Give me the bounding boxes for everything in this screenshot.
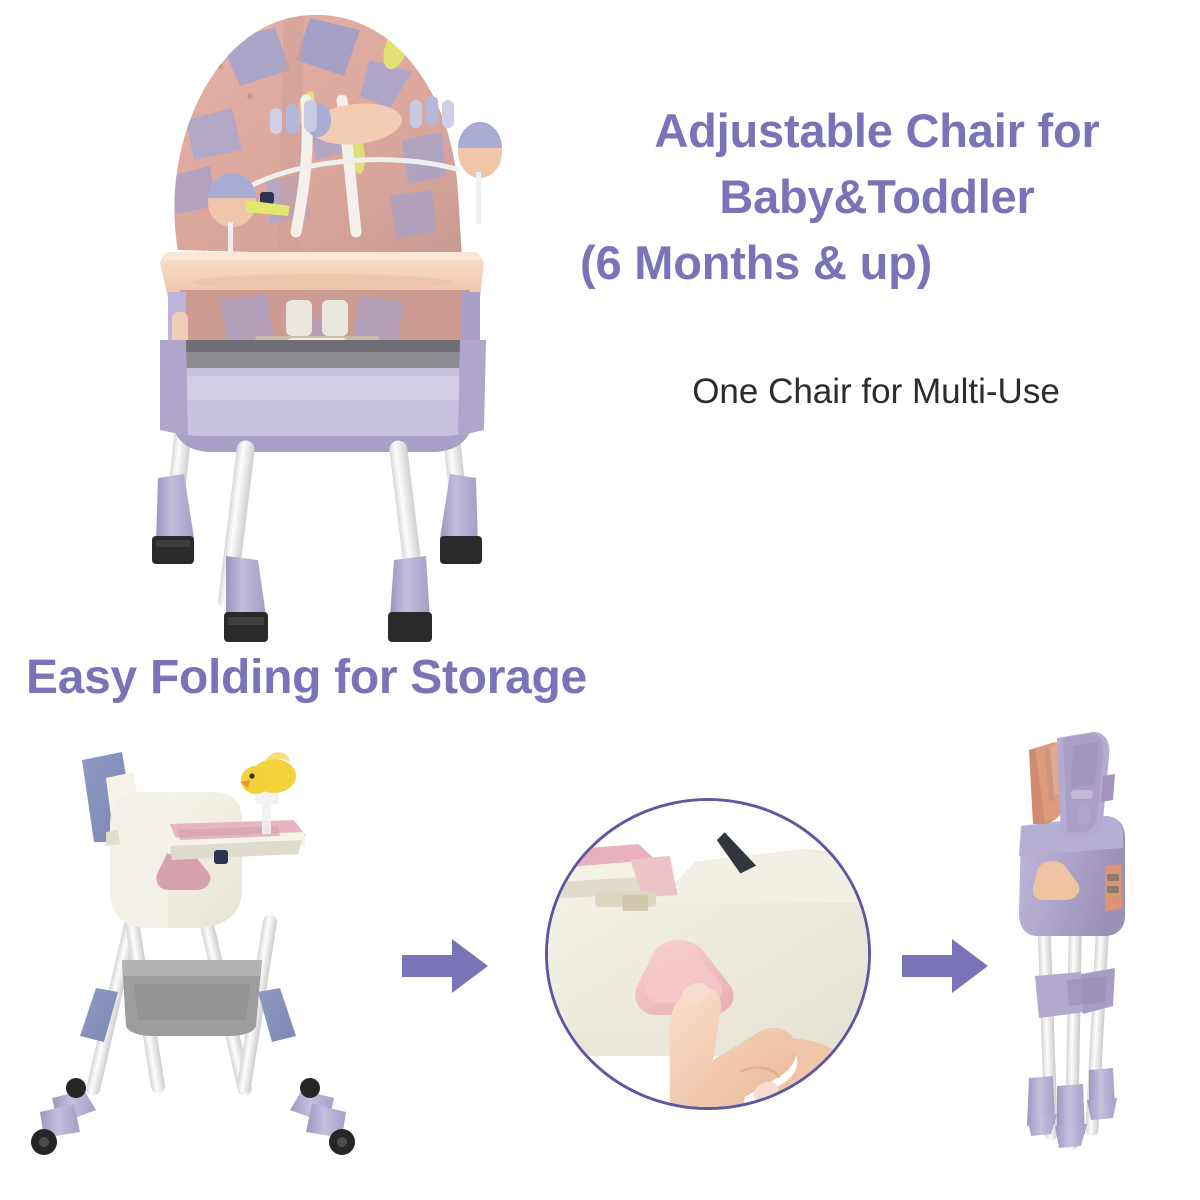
- headline-line-1: Adjustable Chair for: [566, 98, 1188, 164]
- page-title: Adjustable Chair for Baby&Toddler (6 Mon…: [566, 98, 1188, 296]
- detail-circle-frame: [545, 798, 871, 1110]
- headline-line-2: Baby&Toddler: [566, 164, 1188, 230]
- folded-chair-image: [985, 730, 1175, 1188]
- fold-release-detail-image: [545, 798, 871, 1110]
- arrow-step-1-icon: [400, 935, 490, 997]
- product-infographic: Adjustable Chair for Baby&Toddler (6 Mon…: [0, 0, 1200, 1200]
- arrow-step-2-icon: [900, 935, 990, 997]
- headline-line-3: (6 Months & up): [566, 230, 1188, 296]
- section-title-easy-folding: Easy Folding for Storage: [26, 650, 587, 705]
- hero-high-chair-image: [60, 0, 570, 650]
- side-view-chair-image: [18, 738, 368, 1188]
- subheadline: One Chair for Multi-Use: [566, 372, 1186, 412]
